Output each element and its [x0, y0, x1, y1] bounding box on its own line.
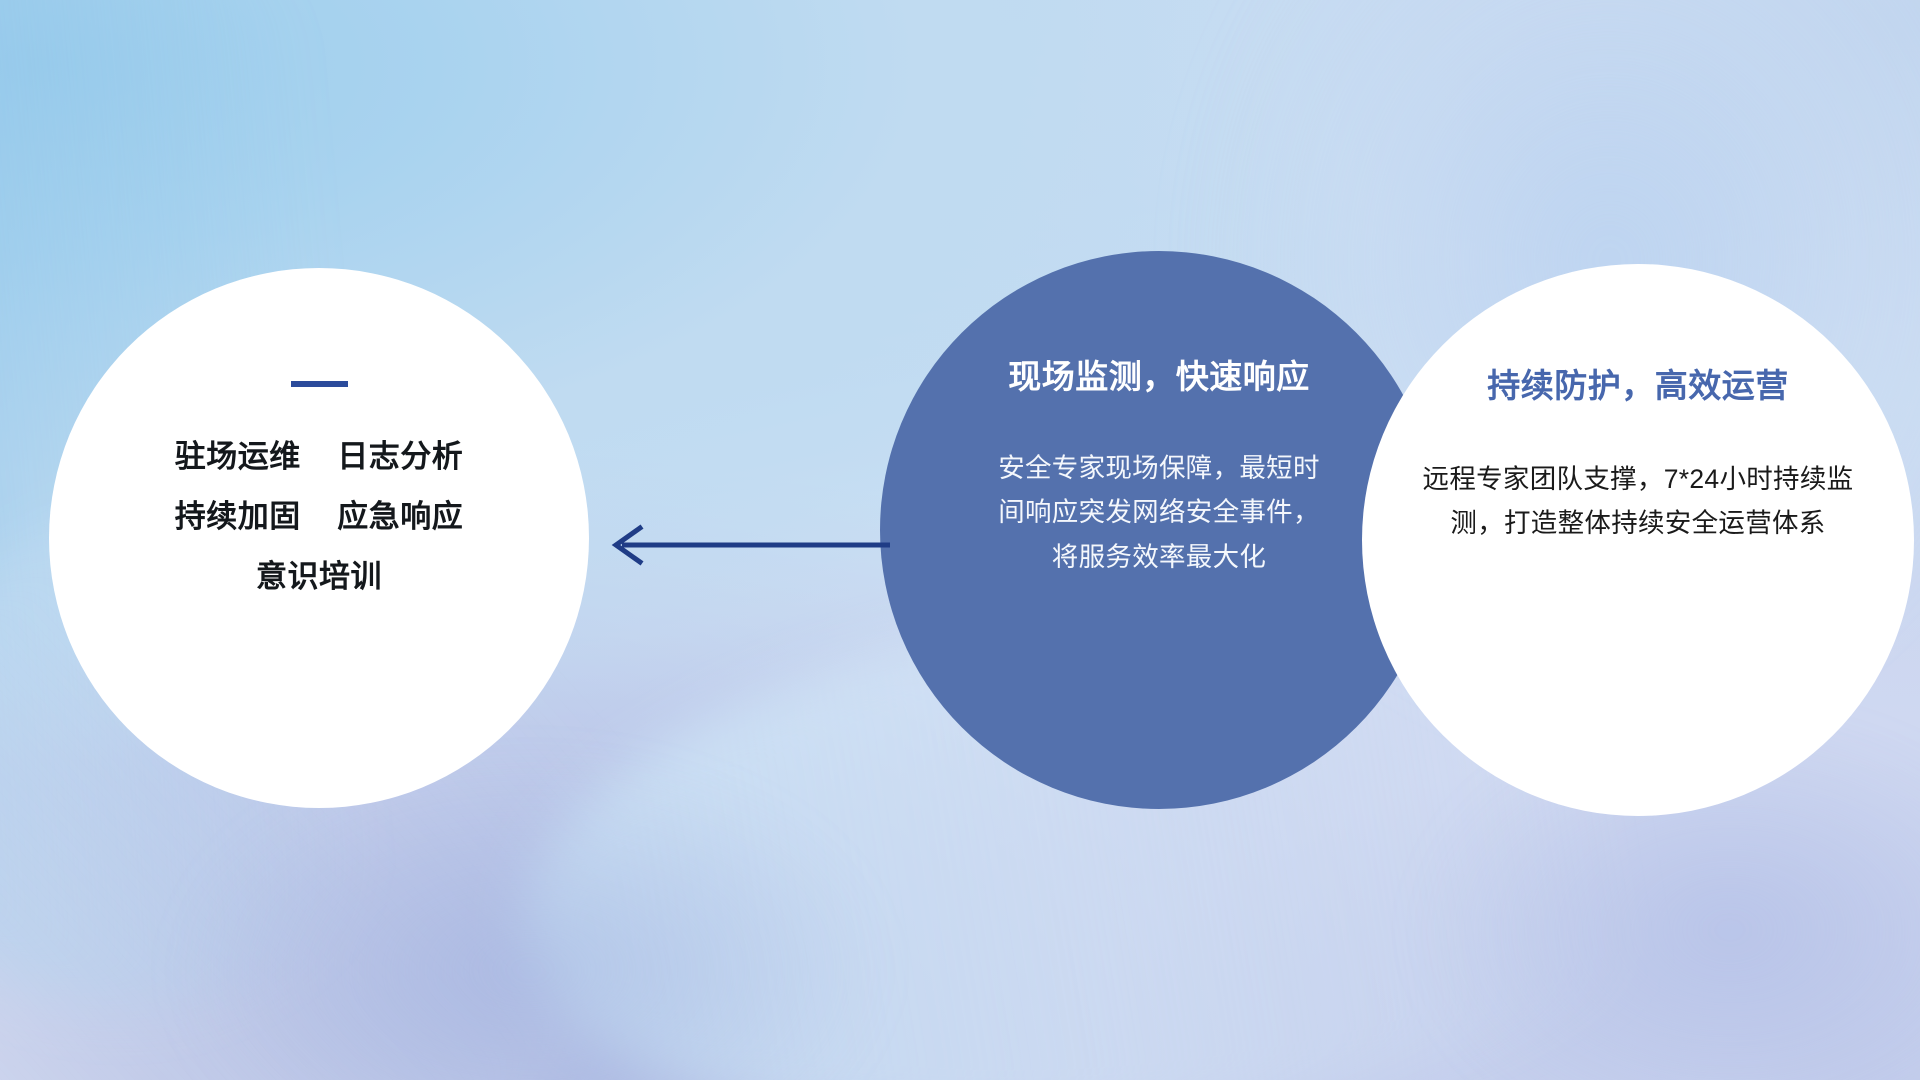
onsite-monitoring-circle[interactable]: 现场监测，快速响应 安全专家现场保障，最短时间响应突发网络安全事件，将服务效率最…	[880, 251, 1438, 809]
continuous-protection-circle[interactable]: 持续防护，高效运营 远程专家团队支撑，7*24小时持续监测，打造整体持续安全运营…	[1362, 264, 1914, 816]
mid-circle-content: 现场监测，快速响应 安全专家现场保障，最短时间响应突发网络安全事件，将服务效率最…	[880, 251, 1438, 809]
list-item: 驻场运维 日志分析	[49, 427, 589, 487]
list-item: 持续加固 应急响应	[49, 487, 589, 547]
left-circle-content: 驻场运维 日志分析 持续加固 应急响应 意识培训	[49, 268, 589, 808]
slide-canvas: 驻场运维 日志分析 持续加固 应急响应 意识培训 现场监测，快速响应 安全专家现…	[0, 0, 1920, 1080]
mid-circle-body: 安全专家现场保障，最短时间响应突发网络安全事件，将服务效率最大化	[994, 446, 1324, 579]
list-item: 意识培训	[49, 547, 589, 607]
dash-divider-icon	[291, 381, 348, 387]
left-service-list: 驻场运维 日志分析 持续加固 应急响应 意识培训	[49, 427, 589, 607]
right-circle-body: 远程专家团队支撑，7*24小时持续监测，打造整体持续安全运营体系	[1418, 457, 1858, 546]
left-service-circle[interactable]: 驻场运维 日志分析 持续加固 应急响应 意识培训	[49, 268, 589, 808]
mid-circle-title: 现场监测，快速响应	[1008, 350, 1310, 398]
right-circle-title: 持续防护，高效运营	[1487, 359, 1789, 407]
flow-arrow-icon	[600, 518, 890, 572]
right-circle-content: 持续防护，高效运营 远程专家团队支撑，7*24小时持续监测，打造整体持续安全运营…	[1362, 264, 1914, 816]
